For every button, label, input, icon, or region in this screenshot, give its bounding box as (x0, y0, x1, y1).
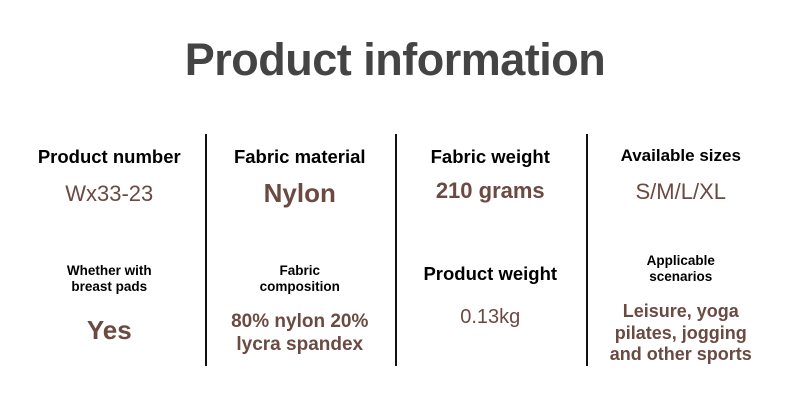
spec-label: Available sizes (621, 146, 741, 166)
page-title: Product information (0, 36, 790, 83)
specification-table: Product number Wx33-23 Whether with brea… (14, 134, 776, 366)
spec-value: Leisure, yoga pilates, jogging and other… (610, 301, 752, 366)
product-information-card: Product information Product number Wx33-… (0, 0, 790, 413)
spec-value: 210 grams (436, 178, 545, 204)
spec-value: 0.13kg (460, 305, 520, 329)
spec-column-fabric-material: Fabric material Nylon Fabric composition… (205, 134, 396, 366)
spec-label: Fabric composition (260, 263, 340, 295)
spec-label: Product weight (423, 263, 557, 285)
spec-cell: Product weight 0.13kg (395, 249, 586, 366)
spec-label: Applicable scenarios (647, 253, 715, 285)
spec-column-available-sizes: Available sizes S/M/L/XL Applicable scen… (586, 134, 777, 366)
spec-label: Fabric weight (431, 146, 550, 168)
spec-cell: Fabric material Nylon (205, 134, 396, 249)
spec-cell: Fabric composition 80% nylon 20% lycra s… (205, 249, 396, 366)
spec-column-fabric-weight: Fabric weight 210 grams Product weight 0… (395, 134, 586, 366)
spec-cell: Available sizes S/M/L/XL (586, 134, 777, 239)
spec-value: Nylon (264, 178, 336, 209)
spec-value: Wx33-23 (65, 181, 153, 207)
spec-value: 80% nylon 20% lycra spandex (231, 311, 368, 357)
spec-cell: Applicable scenarios Leisure, yoga pilat… (586, 239, 777, 366)
spec-label: Whether with breast pads (67, 263, 152, 295)
spec-cell: Fabric weight 210 grams (395, 134, 586, 249)
spec-label: Fabric material (234, 146, 366, 168)
spec-cell: Product number Wx33-23 (14, 134, 205, 249)
spec-value: S/M/L/XL (636, 179, 726, 205)
spec-label: Product number (38, 146, 181, 168)
spec-value: Yes (87, 315, 132, 346)
spec-cell: Whether with breast pads Yes (14, 249, 205, 366)
spec-column-product-number: Product number Wx33-23 Whether with brea… (14, 134, 205, 366)
